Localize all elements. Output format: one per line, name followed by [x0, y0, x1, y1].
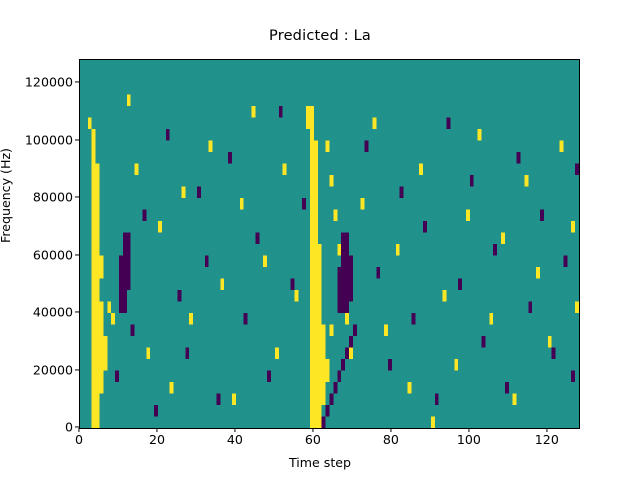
- x-tick-mark: [468, 428, 469, 432]
- y-tick-label: 120000: [25, 75, 73, 90]
- y-tick-mark: [75, 196, 79, 197]
- x-tick-mark: [312, 428, 313, 432]
- x-tick-mark: [234, 428, 235, 432]
- y-tick-mark: [75, 254, 79, 255]
- y-tick-label: 40000: [33, 305, 73, 320]
- x-tick-mark: [390, 428, 391, 432]
- x-tick-label: 20: [149, 432, 165, 447]
- x-tick-mark: [156, 428, 157, 432]
- y-tick-mark: [75, 139, 79, 140]
- chart-title: Predicted : La: [0, 28, 640, 44]
- x-axis-label: Time step: [0, 455, 640, 470]
- x-tick-label: 60: [305, 432, 321, 447]
- y-tick-mark: [75, 311, 79, 312]
- x-tick-mark: [78, 428, 79, 432]
- y-tick-label: 60000: [33, 247, 73, 262]
- matplotlib-figure: Predicted : La Frequency (Hz) Time step …: [0, 0, 640, 480]
- heatmap-axes: [79, 59, 580, 429]
- y-tick-mark: [75, 369, 79, 370]
- y-tick-mark: [75, 81, 79, 82]
- x-tick-label: 40: [227, 432, 243, 447]
- y-axis-label: Frequency (Hz): [0, 148, 13, 243]
- x-tick-label: 100: [457, 432, 481, 447]
- y-tick-label: 0: [65, 420, 73, 435]
- x-tick-label: 120: [535, 432, 559, 447]
- x-tick-mark: [546, 428, 547, 432]
- heatmap-cells: [80, 60, 579, 428]
- y-tick-label: 80000: [33, 190, 73, 205]
- x-tick-label: 0: [75, 432, 83, 447]
- y-tick-label: 100000: [25, 132, 73, 147]
- y-tick-label: 20000: [33, 362, 73, 377]
- x-tick-label: 80: [383, 432, 399, 447]
